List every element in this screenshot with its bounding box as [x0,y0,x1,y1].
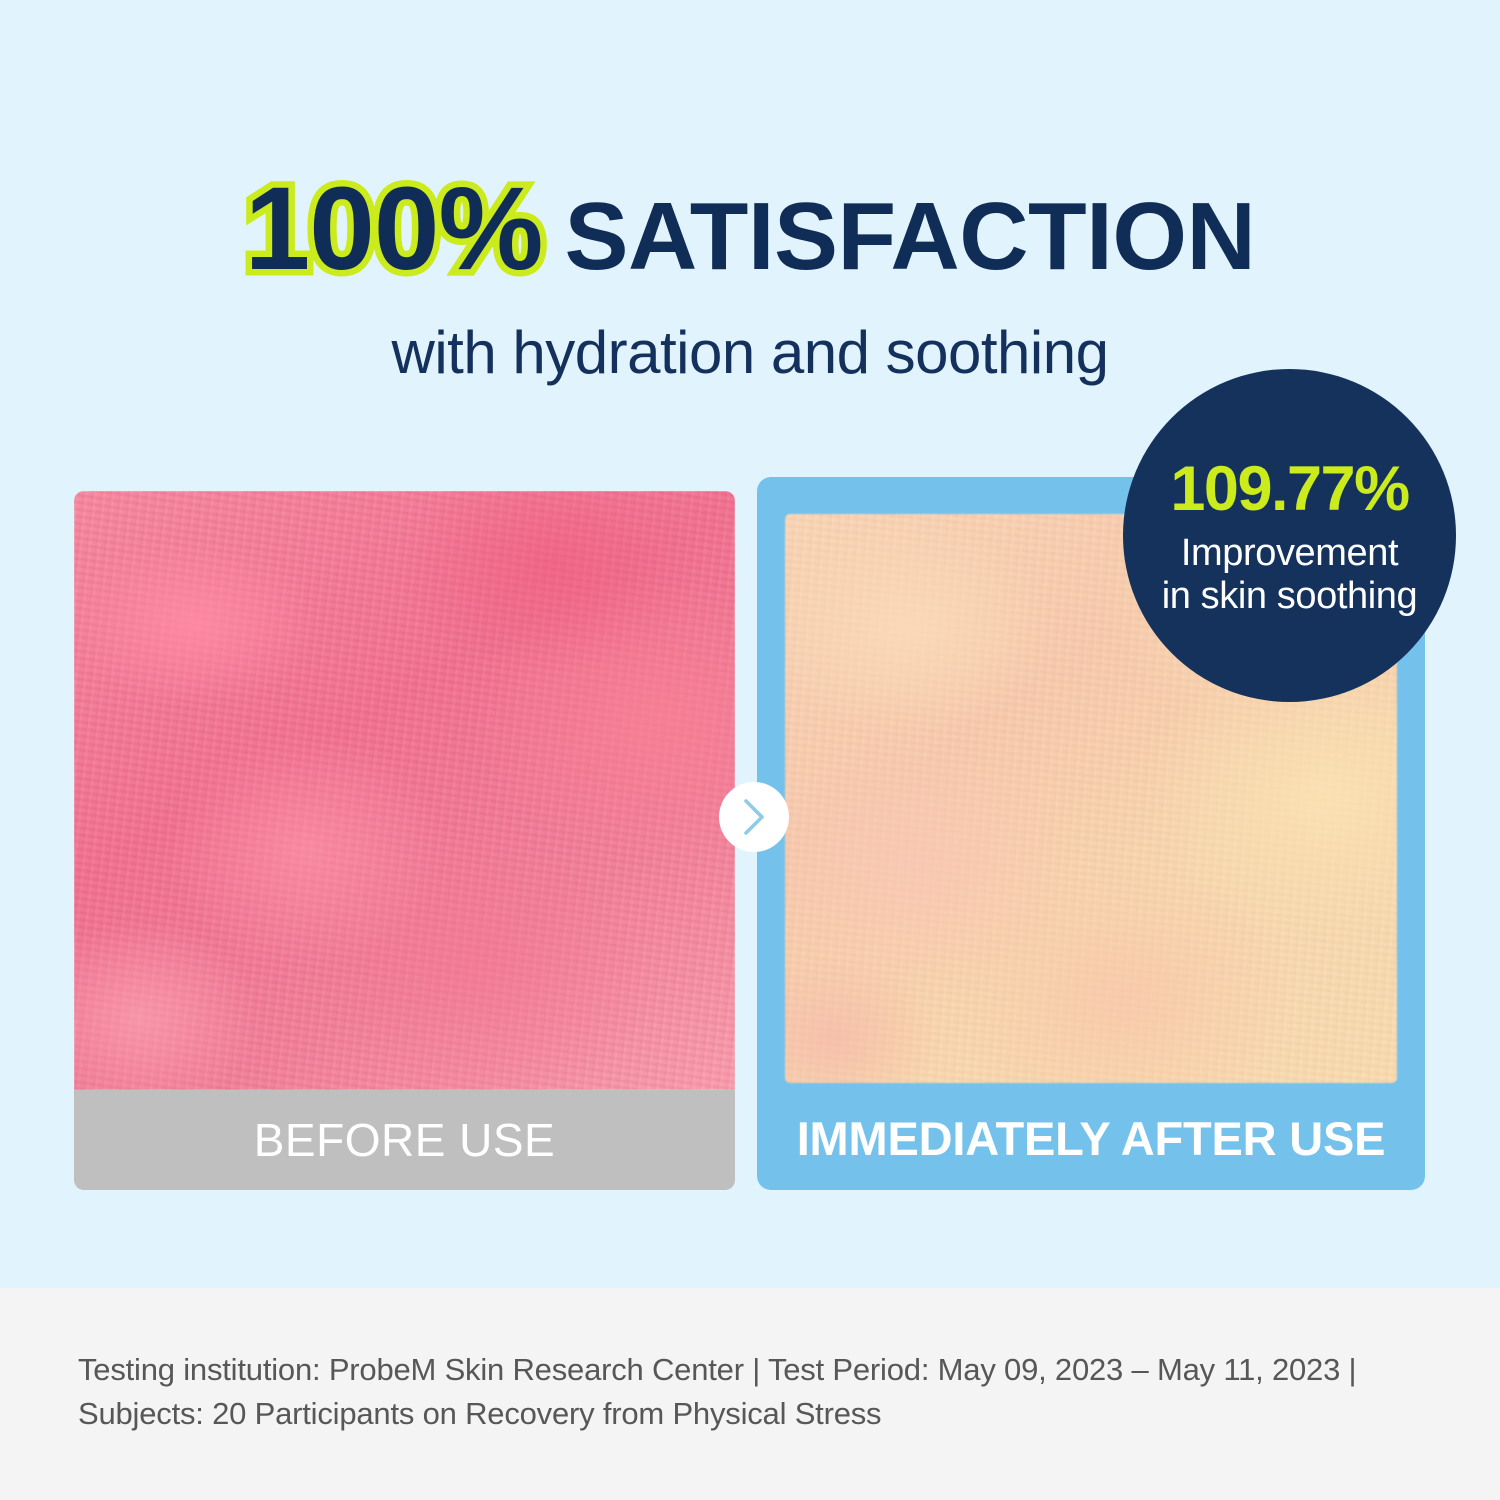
badge-caption-line1: Improvement [1162,532,1418,575]
headline-word: SATISFACTION [564,183,1255,290]
study-footnote: Testing institution: ProbeM Skin Researc… [78,1348,1418,1436]
result-badge: 109.77% Improvement in skin soothing [1123,369,1456,702]
before-panel: BEFORE USE [74,491,735,1190]
badge-caption: Improvement in skin soothing [1162,532,1418,617]
hero-section: 100%SATISFACTION with hydration and soot… [0,0,1500,1288]
after-label: IMMEDIATELY AFTER USE [757,1086,1425,1190]
badge-value: 109.77% [1170,458,1408,521]
footnote-line-1: Testing institution: ProbeM Skin Researc… [78,1348,1418,1392]
footnote-line-2: Subjects: 20 Participants on Recovery fr… [78,1392,1418,1436]
page-title: 100%SATISFACTION [0,170,1500,288]
comparison-arrow-button[interactable] [719,782,789,852]
headline-percent: 100% [245,163,543,295]
chevron-right-icon [737,796,771,838]
before-label: BEFORE USE [74,1090,735,1190]
badge-caption-line2: in skin soothing [1162,575,1418,618]
before-skin-image [74,491,735,1090]
